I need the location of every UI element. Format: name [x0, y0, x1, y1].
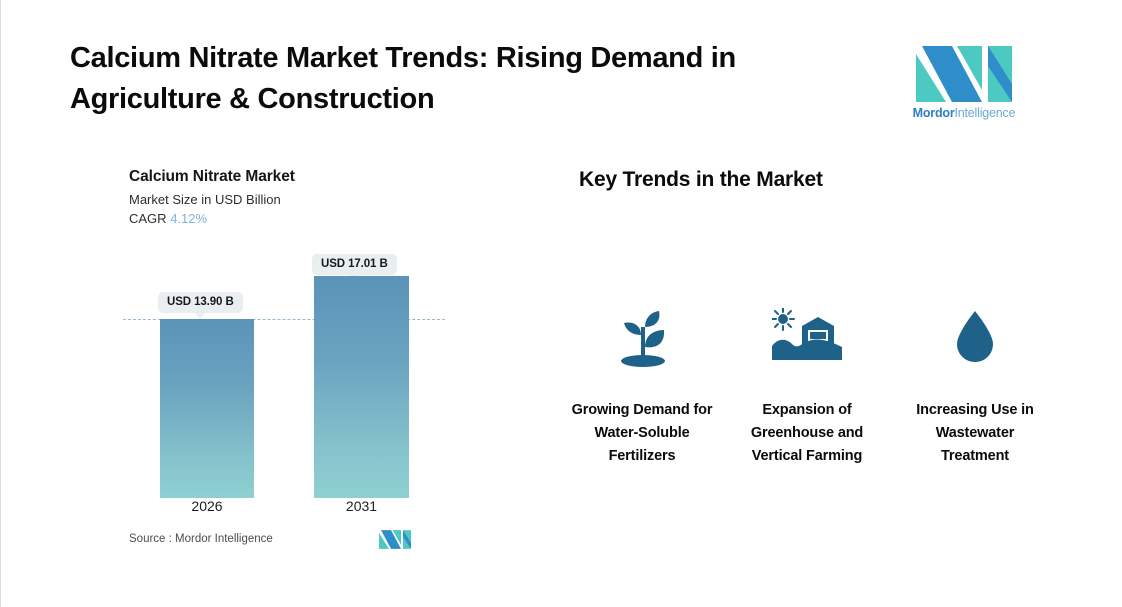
trend-item: Expansion of Greenhouse and Vertical Far…	[732, 300, 882, 468]
water-droplet-icon	[900, 300, 1050, 374]
brand-name-light: Intelligence	[955, 106, 1016, 120]
chart-cagr: CAGR 4.12%	[129, 211, 207, 226]
chart-subtitle: Market Size in USD Billion	[129, 192, 281, 207]
x-axis-label: 2026	[160, 498, 254, 514]
trend-label: Increasing Use in Wastewater Treatment	[900, 399, 1050, 468]
trend-item: Growing Demand for Water-Soluble Fertili…	[567, 300, 717, 468]
x-axis-label: 2031	[314, 498, 409, 514]
brand-name-bold: Mordor	[913, 106, 955, 120]
trend-label: Expansion of Greenhouse and Vertical Far…	[732, 399, 882, 468]
brand-wordmark: MordorIntelligence	[904, 106, 1024, 120]
mordor-m-logo-icon	[916, 46, 1012, 102]
bar-value-label: USD 13.90 B	[158, 292, 243, 313]
seedling-plant-icon	[567, 300, 717, 374]
bar-2031	[314, 276, 409, 498]
source-note: Source : Mordor Intelligence	[129, 533, 273, 545]
infographic-page: Calcium Nitrate Market Trends: Rising De…	[0, 0, 1122, 607]
bar-chart-plot: USD 13.90 B USD 17.01 B 2026 2031	[119, 240, 449, 510]
brand-logo: MordorIntelligence	[904, 46, 1024, 122]
bar-value-label: USD 17.01 B	[312, 254, 397, 275]
cagr-value: 4.12%	[170, 211, 207, 226]
trend-label: Growing Demand for Water-Soluble Fertili…	[567, 399, 717, 468]
bar-2026	[160, 319, 254, 498]
trend-item: Increasing Use in Wastewater Treatment	[900, 300, 1050, 468]
cagr-label: CAGR	[129, 211, 167, 226]
page-title: Calcium Nitrate Market Trends: Rising De…	[70, 38, 870, 120]
chart-title: Calcium Nitrate Market	[129, 168, 295, 186]
trends-title: Key Trends in the Market	[579, 168, 823, 192]
mordor-m-logo-icon	[379, 530, 411, 549]
barn-farm-sun-icon	[732, 300, 882, 374]
